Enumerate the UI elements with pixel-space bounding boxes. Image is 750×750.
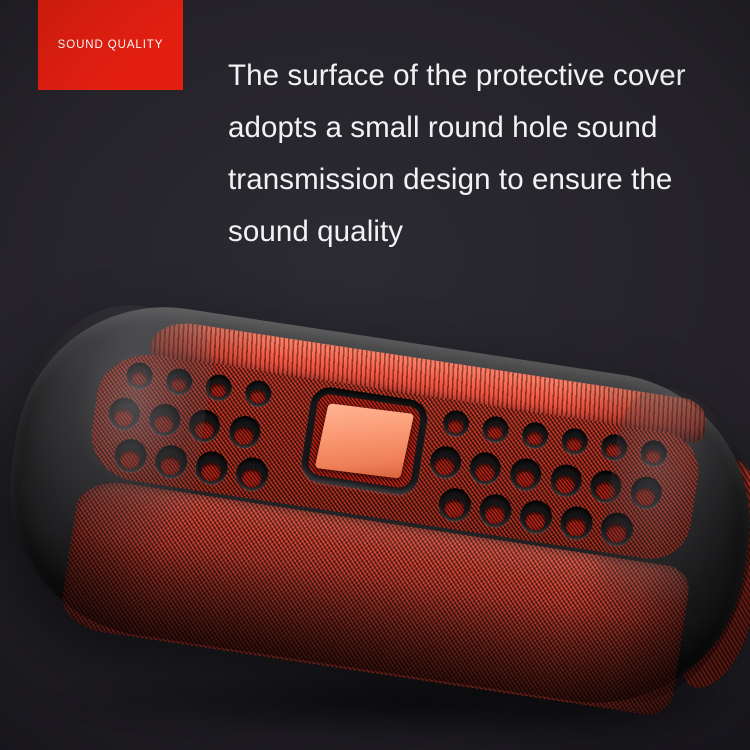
grille-hole <box>227 414 262 450</box>
center-window-recess <box>299 385 430 498</box>
sound-quality-badge: SOUND QUALITY <box>38 0 183 90</box>
grille-hole <box>187 408 222 444</box>
grille-hole <box>508 456 543 492</box>
grille-hole-mesh <box>233 425 255 446</box>
grille-hole-mesh <box>434 456 456 477</box>
grille-hole-mesh <box>443 498 466 519</box>
grille-hole-mesh <box>474 462 496 483</box>
grille-hole-mesh <box>209 382 228 399</box>
product-banner-page: SOUND QUALITY The surface of the protect… <box>0 0 750 750</box>
grille-hole-mesh <box>193 419 215 440</box>
grille-hole-mesh <box>486 424 505 441</box>
headline-line-2: adopts a small round hole sound <box>228 102 728 154</box>
grille-hole-mesh <box>169 376 188 393</box>
grille-hole <box>639 439 669 469</box>
grille-hole-mesh <box>240 467 263 488</box>
grille-hole <box>599 511 636 548</box>
grille-hole-mesh <box>153 413 175 434</box>
grille-hole-mesh <box>483 504 506 525</box>
grille-hole-mesh <box>113 407 135 428</box>
headline-line-1: The surface of the protective cover <box>228 50 728 102</box>
grille-hole <box>560 427 590 457</box>
grille-hole-mesh <box>200 461 223 482</box>
product-image <box>0 280 750 750</box>
grille-hole-mesh <box>564 516 587 537</box>
grille-hole <box>112 437 149 474</box>
grille-hole <box>437 486 474 523</box>
grille-hole-mesh <box>525 430 544 447</box>
badge-label: SOUND QUALITY <box>58 39 164 51</box>
grille-hole <box>125 361 155 391</box>
grille-hole-mesh <box>249 388 268 405</box>
grille-hole <box>628 475 663 511</box>
grille-hole <box>204 373 234 403</box>
grille-hole-mesh <box>524 510 547 531</box>
grille-hole <box>234 455 271 492</box>
grille-hole <box>193 449 230 486</box>
grille-hole-mesh <box>446 418 465 435</box>
grille-hole <box>520 421 550 451</box>
grille-hole <box>428 444 463 480</box>
grille-hole-mesh <box>159 455 182 476</box>
grille-hole <box>518 498 555 535</box>
grille-hole-mesh <box>118 449 141 470</box>
headline-block: The surface of the protective cover adop… <box>228 50 728 258</box>
grille-hole <box>558 504 595 541</box>
grille-hole <box>477 492 514 529</box>
grille-hole <box>588 468 623 504</box>
grille-hole-mesh <box>634 486 656 507</box>
grille-hole <box>147 402 182 438</box>
grille-hole <box>599 433 629 463</box>
grille-hole-mesh <box>594 480 616 501</box>
bluetooth-speaker <box>0 287 750 724</box>
grille-hole-mesh <box>554 474 576 495</box>
grille-hole-mesh <box>605 522 628 543</box>
grille-hole-mesh <box>130 370 149 387</box>
grille-hole <box>243 379 273 409</box>
grille-hole <box>468 450 503 486</box>
grille-hole <box>441 409 471 439</box>
orange-brand-label <box>315 403 414 478</box>
grille-hole-mesh <box>604 442 623 459</box>
grille-hole <box>107 396 142 432</box>
headline-line-3: transmission design to ensure the <box>228 154 728 206</box>
grille-hole <box>481 415 511 445</box>
grille-hole <box>548 462 583 498</box>
grille-hole-mesh <box>644 448 663 465</box>
headline-line-4: sound quality <box>228 206 728 258</box>
grille-hole-mesh <box>514 468 536 489</box>
grille-hole <box>164 367 194 397</box>
grille-hole <box>153 443 190 480</box>
grille-hole-mesh <box>565 436 584 453</box>
